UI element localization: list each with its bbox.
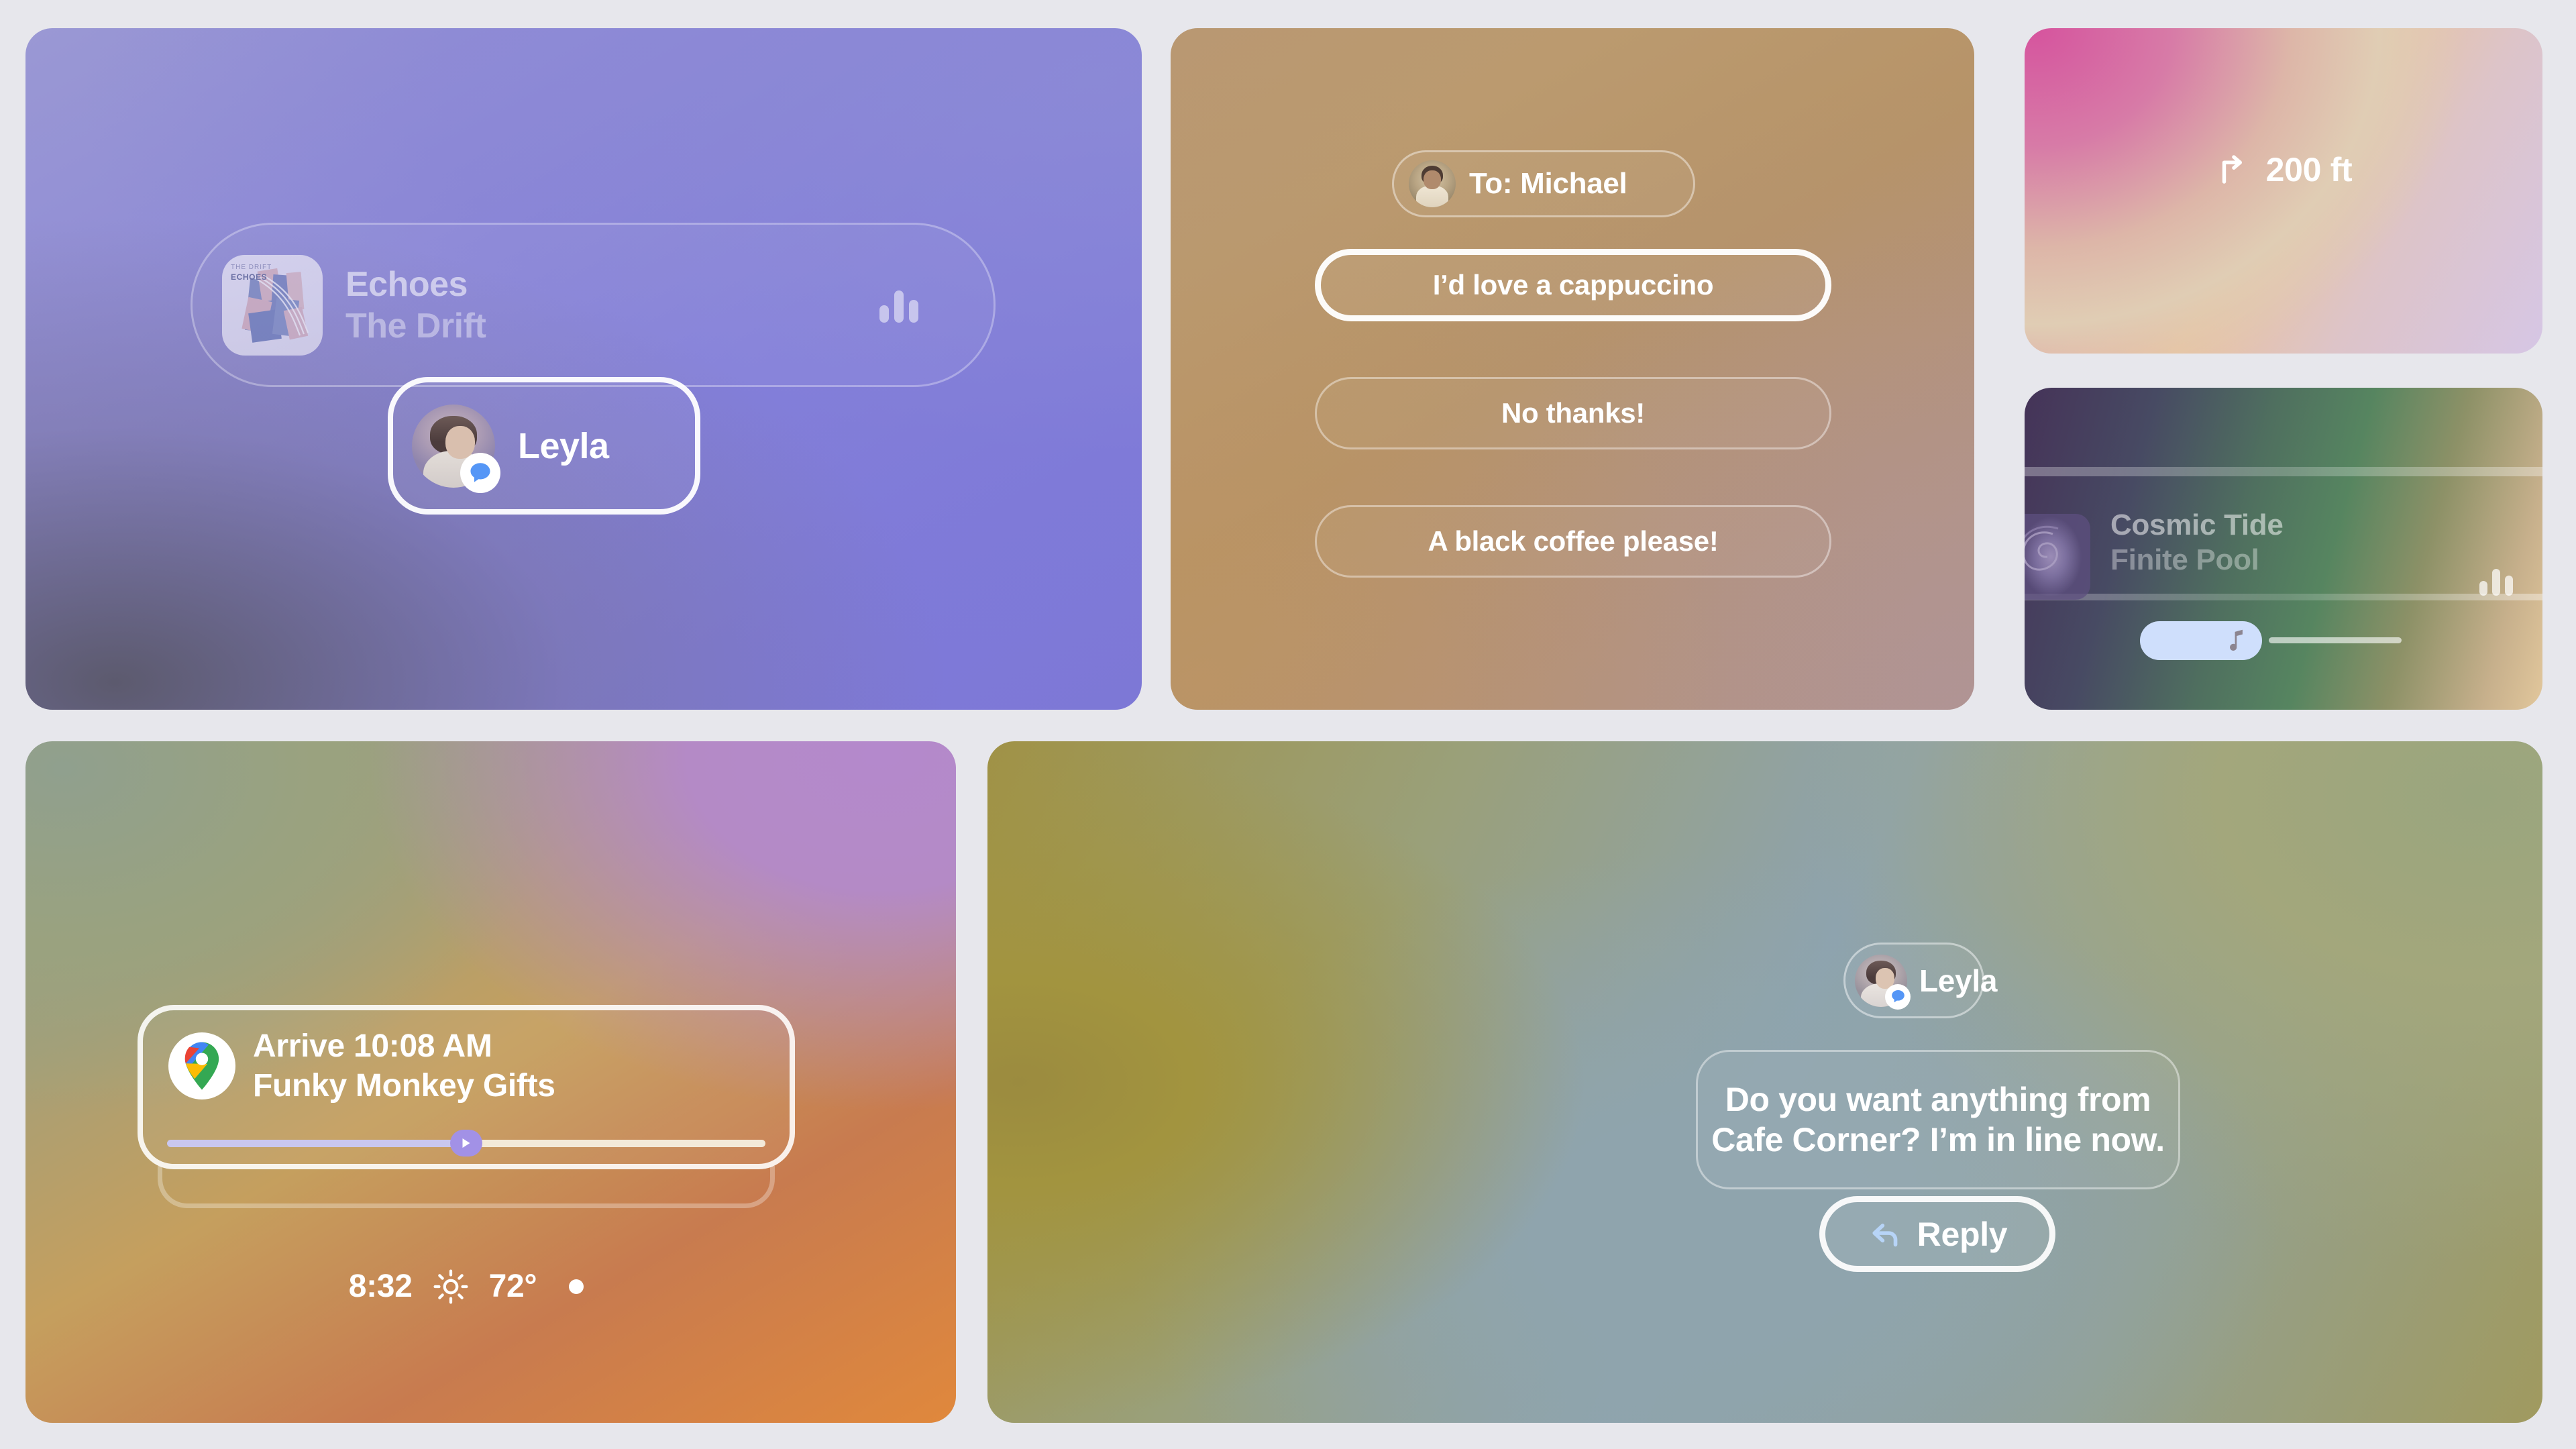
now-playing-card[interactable]: THE DRIFT ECHOES Echoes The Drift [191,223,996,387]
album-art-title-line: ECHOES [231,272,272,282]
status-bar: 8:32 72° [138,1268,795,1305]
clock-time: 8:32 [349,1268,413,1305]
quick-reply-option-2[interactable]: No thanks! [1315,377,1831,449]
now-playing-text: Echoes The Drift [345,264,486,346]
track-artist: The Drift [345,306,486,346]
playback-progress-track[interactable] [2269,637,2402,643]
eta-card[interactable]: Arrive 10:08 AM Funky Monkey Gifts [138,1005,795,1169]
avatar [412,405,495,488]
album-art-text: THE DRIFT ECHOES [231,263,272,283]
progress-filled [167,1140,466,1147]
reply-button[interactable]: Reply [1819,1196,2055,1272]
quick-reply-option-1[interactable]: I’d love a cappuccino [1315,249,1831,321]
now-playing-panel[interactable]: THE DRIFT ECHOES Echoes The Drift [25,28,1142,710]
quick-reply-label: A black coffee please! [1428,525,1718,557]
avatar [1855,955,1907,1007]
turn-right-arrow-icon [2215,152,2251,188]
contact-name: Leyla [518,425,609,467]
message-line-1: Do you want anything from [1725,1079,2151,1120]
contact-chip-leyla[interactable]: Leyla [388,377,700,515]
quick-replies-panel[interactable]: To: Michael I’d love a cappuccino No tha… [1171,28,1974,710]
panel-band-top [2025,467,2542,476]
avatar [1409,160,1456,207]
arrive-time: Arrive 10:08 AM [253,1028,555,1065]
album-art: THE DRIFT ECHOES [222,255,323,356]
message-line-2: Cafe Corner? I’m in line now. [1711,1120,2165,1160]
album-art [2025,514,2090,600]
sender-name: Leyla [1919,963,1997,999]
dot-indicator [569,1279,584,1294]
navigation-instruction: 200 ft [2025,150,2542,189]
navigation-distance: 200 ft [2266,150,2353,189]
navigation-panel[interactable]: 200 ft [2025,28,2542,354]
widget-board: THE DRIFT ECHOES Echoes The Drift [0,0,2576,1449]
reply-button-label: Reply [1917,1215,2008,1254]
track-title: Echoes [345,264,486,305]
equalizer-icon [879,288,918,323]
destination-name: Funky Monkey Gifts [253,1067,555,1104]
cosmic-tide-panel[interactable]: Cosmic Tide Finite Pool [2025,388,2542,710]
progress-remaining [466,1140,765,1147]
cosmic-tide-text: Cosmic Tide Finite Pool [2110,508,2284,577]
recipient-label: To: Michael [1469,167,1627,201]
messages-bubble-icon [460,453,500,493]
track-artist: Finite Pool [2110,543,2284,577]
track-title: Cosmic Tide [2110,508,2284,542]
music-note-icon [2224,627,2247,654]
message-panel[interactable]: Leyla Do you want anything from Cafe Cor… [987,741,2542,1423]
messages-bubble-icon [1885,984,1911,1010]
eta-text: Arrive 10:08 AM Funky Monkey Gifts [253,1028,555,1104]
reply-arrow-icon [1868,1216,1905,1253]
quick-reply-label: I’d love a cappuccino [1433,269,1713,301]
panel-band-bottom [2025,594,2542,600]
album-art-swirl [2025,519,2090,593]
temperature: 72° [489,1268,537,1305]
google-maps-pin-icon [168,1032,235,1099]
maps-eta-panel[interactable]: Arrive 10:08 AM Funky Monkey Gifts 8:32 [25,741,956,1423]
recipient-chip[interactable]: To: Michael [1392,150,1695,217]
album-art-artist-line: THE DRIFT [231,263,272,272]
quick-reply-label: No thanks! [1501,397,1645,429]
route-progress-slider[interactable] [167,1130,765,1157]
eta-header: Arrive 10:08 AM Funky Monkey Gifts [168,1028,555,1104]
equalizer-icon [2479,568,2513,596]
quick-reply-option-3[interactable]: A black coffee please! [1315,505,1831,578]
music-source-pill[interactable] [2140,621,2262,660]
play-arrow-icon[interactable] [450,1130,482,1157]
message-bubble[interactable]: Do you want anything from Cafe Corner? I… [1696,1050,2180,1189]
sender-chip[interactable]: Leyla [1843,943,1984,1018]
sun-icon [433,1269,469,1305]
